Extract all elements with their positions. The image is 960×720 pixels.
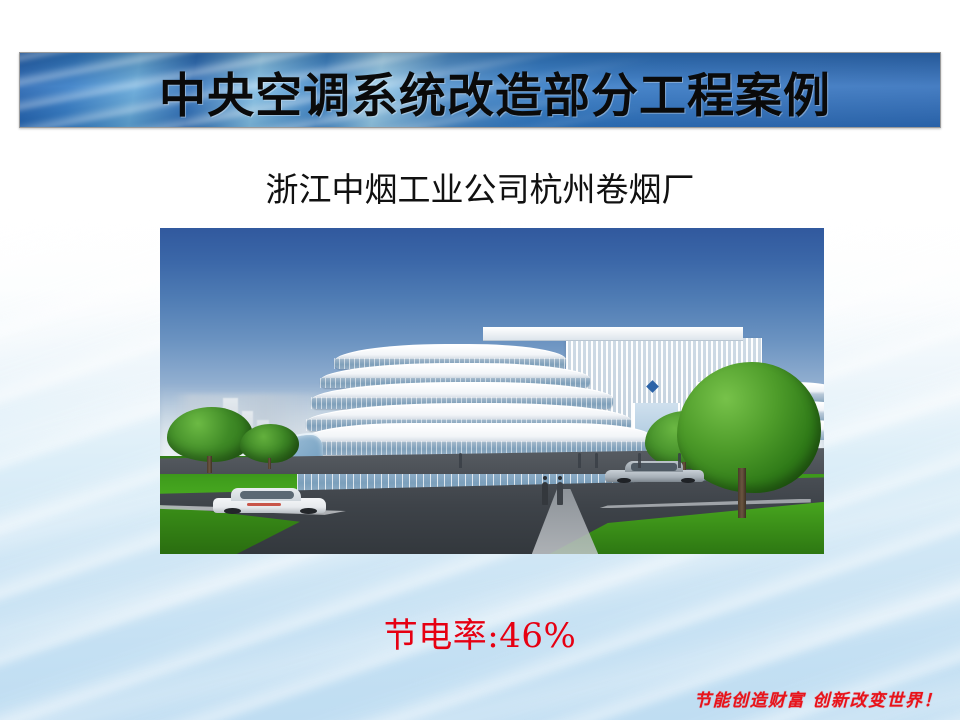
building-rendering-image: [160, 228, 824, 554]
photo-pedestrian-far-1: [459, 453, 462, 468]
photo-pedestrian-far-3: [595, 453, 598, 468]
photo-pedestrian-far-4: [638, 453, 641, 468]
photo-building-roof-cap: [483, 327, 743, 340]
photo-pedestrian-far-2: [578, 453, 581, 468]
power-saving-rate-label: 节电率:46%: [0, 608, 960, 657]
photo-pedestrian-1: [542, 476, 548, 505]
photo-car-white: [213, 489, 326, 513]
subtitle-company-name: 浙江中烟工业公司杭州卷烟厂: [0, 163, 960, 211]
footer-slogan: 节能创造财富 创新改变世界！: [694, 686, 942, 711]
title-banner: 中央空调系统改造部分工程案例: [19, 52, 941, 128]
slide-canvas: 中央空调系统改造部分工程案例 浙江中烟工业公司杭州卷烟厂: [0, 0, 960, 720]
photo-pedestrian-2: [557, 476, 563, 505]
photo-car-silver: [605, 461, 705, 482]
page-title: 中央空调系统改造部分工程案例: [20, 53, 940, 128]
photo-tree-right: [668, 362, 821, 518]
photo-pedestrian-far-5: [678, 453, 681, 468]
photo-tree-left-2: [240, 424, 300, 470]
photo-building-tier-5: [306, 423, 650, 455]
